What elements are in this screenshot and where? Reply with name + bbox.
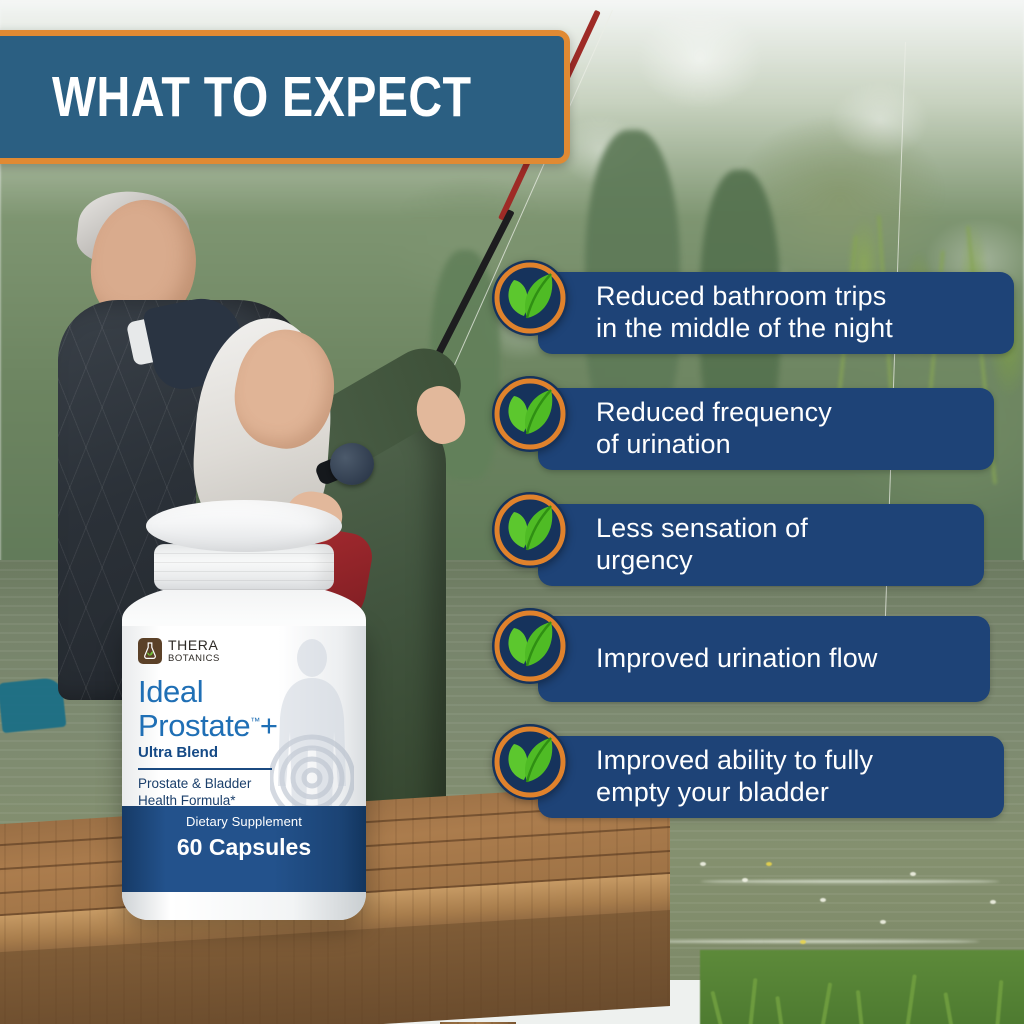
floating-petal (766, 862, 772, 866)
leaf-icon (490, 722, 570, 802)
benefit-pill: Reduced frequency of urination (538, 388, 994, 470)
benefit-item: Reduced bathroom trips in the middle of … (490, 258, 1024, 374)
product-formula: Prostate & Bladder Health Formula* (138, 776, 251, 810)
infographic-canvas: THERA BOTANICS Ideal Prostate™+ Ultra Bl… (0, 0, 1024, 1024)
brand-logo: THERA BOTANICS (138, 638, 220, 664)
fishing-reel (330, 443, 374, 485)
label-divider (138, 768, 272, 770)
benefit-item: Reduced frequency of urination (490, 374, 1024, 490)
floating-petal (800, 940, 806, 944)
product-subtitle: Ultra Blend (138, 744, 218, 761)
benefit-pill: Reduced bathroom trips in the middle of … (538, 272, 1014, 354)
trademark-symbol: ™ (250, 717, 260, 728)
benefit-item: Improved ability to fully empty your bla… (490, 722, 1024, 838)
bottle-cap (146, 500, 342, 552)
prostate-silhouette-icon (270, 636, 354, 816)
floating-petal (880, 920, 886, 924)
header-banner: WHAT TO EXPECT (0, 30, 570, 164)
benefit-text: Improved urination flow (596, 643, 877, 675)
benefit-item: Less sensation of urgency (490, 490, 1024, 606)
grass-bank (700, 950, 1024, 1024)
flask-leaf-icon (138, 638, 162, 664)
folding-chair (0, 677, 66, 733)
floating-petal (910, 872, 916, 876)
benefit-item: Improved urination flow (490, 606, 1024, 722)
brand-name: THERA BOTANICS (168, 638, 220, 664)
product-name-line-1: Ideal (138, 674, 203, 710)
supplement-type: Dietary Supplement (122, 814, 366, 829)
leaf-icon (490, 374, 570, 454)
benefit-text: Reduced frequency of urination (596, 397, 832, 461)
page-title: WHAT TO EXPECT (52, 64, 471, 130)
bottle-label-top: THERA BOTANICS Ideal Prostate™+ Ultra Bl… (122, 626, 366, 806)
bottle-label-bottom: Dietary Supplement 60 Capsules (122, 806, 366, 892)
benefit-pill: Improved ability to fully empty your bla… (538, 736, 1004, 818)
benefit-text: Improved ability to fully empty your bla… (596, 745, 873, 809)
product-name-main: Prostate (138, 708, 250, 743)
product-name-line-2: Prostate™+ (138, 708, 278, 744)
brand-line-2: BOTANICS (168, 654, 220, 664)
leaf-icon (490, 258, 570, 338)
benefit-pill: Less sensation of urgency (538, 504, 984, 586)
product-name-plus: + (260, 708, 278, 743)
bottle-base (122, 892, 366, 920)
capsule-count: 60 Capsules (122, 834, 366, 861)
leaf-icon (490, 606, 570, 686)
brand-line-1: THERA (168, 638, 220, 652)
floating-petal (742, 878, 748, 882)
floating-petal (990, 900, 996, 904)
leaf-icon (490, 490, 570, 570)
benefit-pill: Improved urination flow (538, 616, 990, 702)
benefits-list: Reduced bathroom trips in the middle of … (490, 258, 1024, 838)
product-bottle: THERA BOTANICS Ideal Prostate™+ Ultra Bl… (118, 500, 370, 920)
benefit-text: Less sensation of urgency (596, 513, 808, 577)
benefit-text: Reduced bathroom trips in the middle of … (596, 281, 893, 345)
floating-petal (820, 898, 826, 902)
